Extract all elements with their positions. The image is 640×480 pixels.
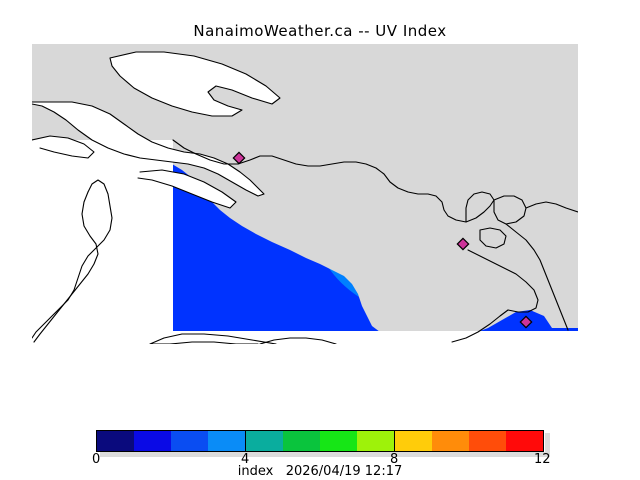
colorbar-segment-8-9 bbox=[394, 431, 432, 451]
colorbar-segment-6-7 bbox=[320, 431, 357, 451]
colorbar[interactable] bbox=[96, 430, 544, 452]
colorbar-segment-2-3 bbox=[171, 431, 208, 451]
colorbar-segment-3-4 bbox=[208, 431, 245, 451]
colorbar-segment-5-6 bbox=[283, 431, 320, 451]
colorbar-strip[interactable] bbox=[96, 430, 544, 452]
colorbar-segment-1-2 bbox=[134, 431, 171, 451]
colorbar-segment-7-8 bbox=[357, 431, 394, 451]
colorbar-segment-0-1 bbox=[97, 431, 134, 451]
colorbar-caption: index 2026/04/19 12:17 bbox=[0, 464, 640, 479]
colorbar-segment-11-12 bbox=[506, 431, 543, 451]
colorbar-segment-10-11 bbox=[469, 431, 506, 451]
map-plot-area[interactable] bbox=[32, 44, 578, 344]
map-canvas bbox=[32, 44, 578, 344]
colorbar-segment-9-10 bbox=[432, 431, 469, 451]
colorbar-segment-4-5 bbox=[245, 431, 283, 451]
uv-index-map-page: NanaimoWeather.ca -- UV Index bbox=[0, 0, 640, 480]
page-title: NanaimoWeather.ca -- UV Index bbox=[0, 22, 640, 40]
